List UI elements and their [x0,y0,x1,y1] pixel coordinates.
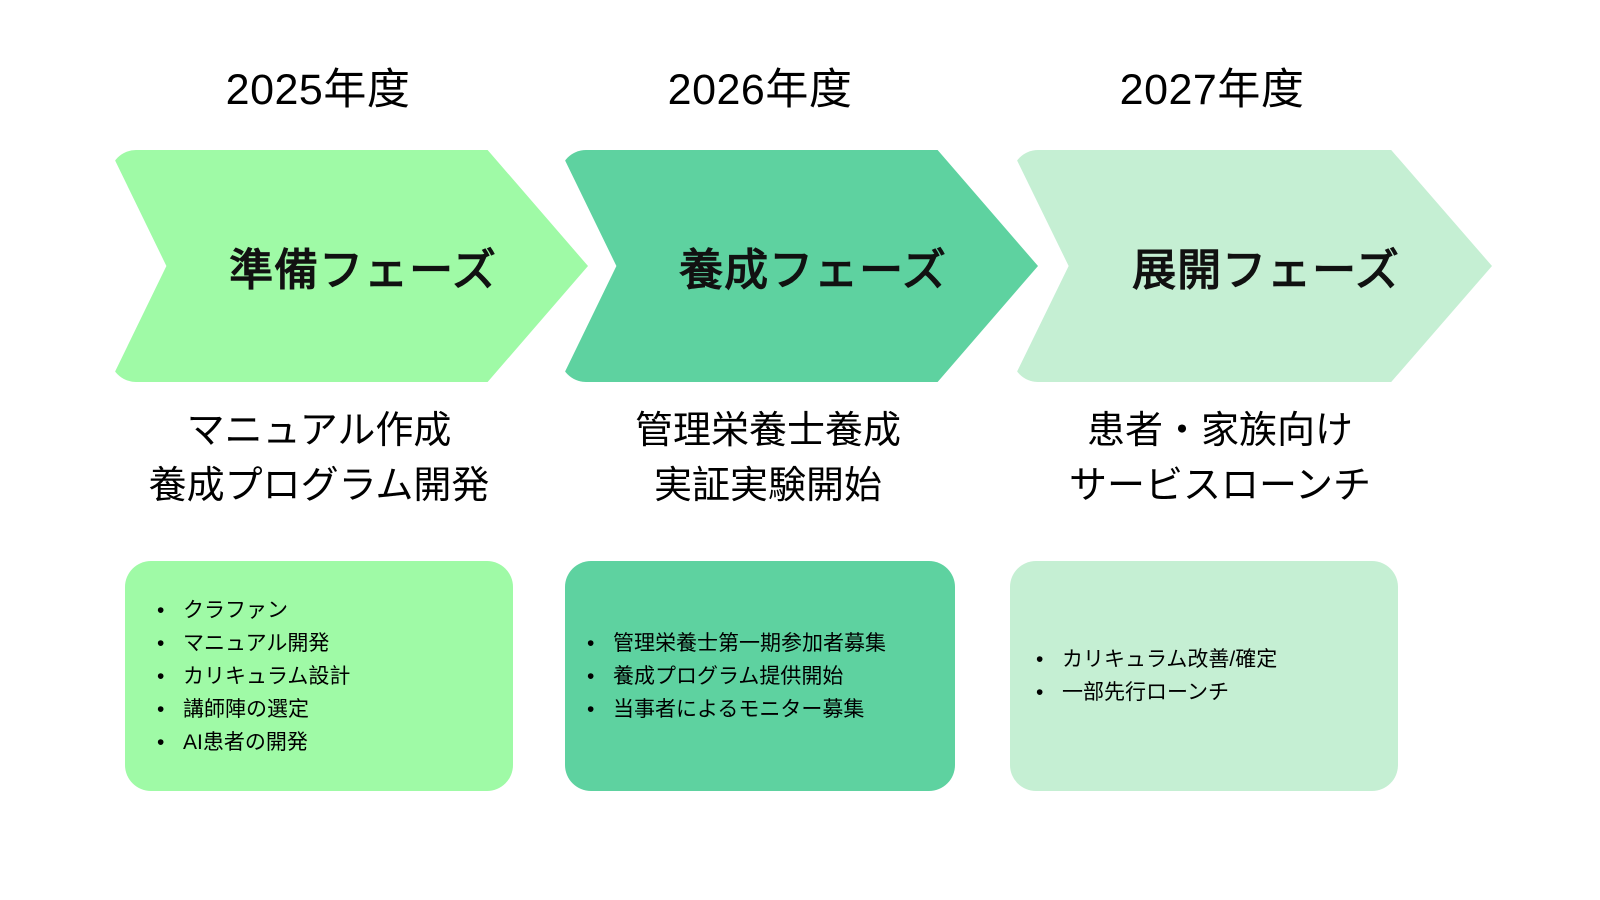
phase-chevron-label: 準備フェーズ [229,234,497,298]
bullet-item: 一部先行ローンチ [1032,676,1398,709]
bullet-item: AI患者の開発 [153,726,513,759]
detail-card-preparation: クラファンマニュアル開発カリキュラム設計講師陣の選定AI患者の開発 [125,561,513,791]
caption-line-1: 管理栄養士養成 [533,404,1003,459]
phase-chevron-label: 展開フェーズ [1132,234,1400,298]
year-heading-2027: 2027年度 [982,55,1442,125]
phase-chevron-preparation: 準備フェーズ [110,150,588,382]
caption-line-2: 実証実験開始 [533,459,1003,514]
bullet-item: マニュアル開発 [153,627,513,660]
detail-card-training: 管理栄養士第一期参加者募集養成プログラム提供開始当事者によるモニター募集 [565,561,955,791]
phase-detail-card-row: クラファンマニュアル開発カリキュラム設計講師陣の選定AI患者の開発 管理栄養士第… [0,561,1600,793]
year-heading-2025: 2025年度 [88,55,548,125]
phase-caption-deployment: 患者・家族向け サービスローンチ [985,404,1455,514]
year-heading-2026: 2026年度 [530,55,990,125]
year-heading-row: 2025年度 2026年度 2027年度 [0,55,1600,130]
bullet-item: 管理栄養士第一期参加者募集 [583,627,955,660]
caption-line-1: マニュアル作成 [84,404,554,459]
bullet-list: 管理栄養士第一期参加者募集養成プログラム提供開始当事者によるモニター募集 [583,627,955,726]
phase-caption-training: 管理栄養士養成 実証実験開始 [533,404,1003,514]
phase-caption-row: マニュアル作成 養成プログラム開発 管理栄養士養成 実証実験開始 患者・家族向け… [0,404,1600,534]
phase-chevron-label: 養成フェーズ [679,234,947,298]
detail-card-deployment: カリキュラム改善/確定一部先行ローンチ [1010,561,1398,791]
phase-chevron-training: 養成フェーズ [560,150,1038,382]
bullet-item: カリキュラム設計 [153,660,513,693]
bullet-item: 養成プログラム提供開始 [583,660,955,693]
bullet-list: クラファンマニュアル開発カリキュラム設計講師陣の選定AI患者の開発 [153,594,513,759]
bullet-list: カリキュラム改善/確定一部先行ローンチ [1032,643,1398,709]
caption-line-2: 養成プログラム開発 [84,459,554,514]
bullet-item: クラファン [153,594,513,627]
bullet-item: カリキュラム改善/確定 [1032,643,1398,676]
phase-caption-preparation: マニュアル作成 養成プログラム開発 [84,404,554,514]
caption-line-2: サービスローンチ [985,459,1455,514]
phase-roadmap-diagram: 2025年度 2026年度 2027年度 準備フェーズ 養成フェーズ 展開フェー… [0,0,1600,900]
phase-chevron-row: 準備フェーズ 養成フェーズ 展開フェーズ [0,150,1600,382]
bullet-item: 講師陣の選定 [153,693,513,726]
bullet-item: 当事者によるモニター募集 [583,693,955,726]
caption-line-1: 患者・家族向け [985,404,1455,459]
phase-chevron-deployment: 展開フェーズ [1012,150,1492,382]
